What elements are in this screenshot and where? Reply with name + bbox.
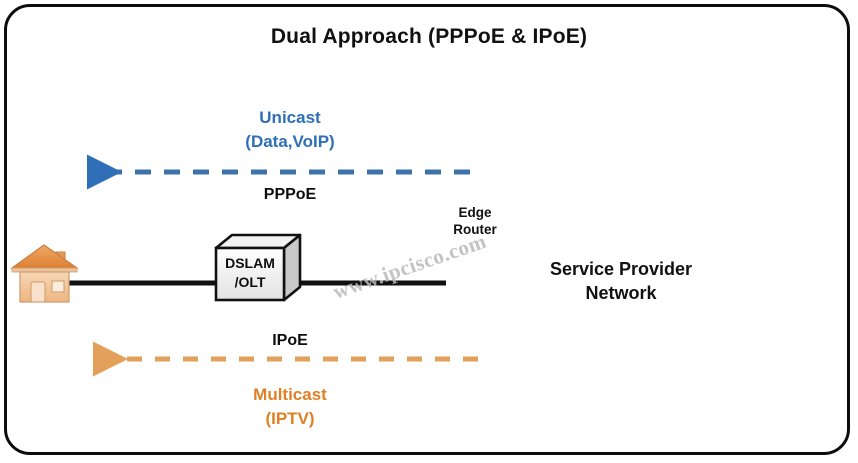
cloud-label-line2: Network [508, 282, 734, 306]
edge-router-label-line1: Edge [420, 205, 530, 221]
pppoe-label: PPPoE [190, 185, 390, 205]
page-title: Dual Approach (PPPoE & IPoE) [0, 25, 858, 49]
multicast-label-line1: Multicast [190, 385, 390, 406]
dslam-label-line2: /OLT [216, 274, 284, 291]
multicast-label-line2: (IPTV) [190, 409, 390, 430]
unicast-label-line1: Unicast [190, 108, 390, 129]
ipoe-label: IPoE [190, 331, 390, 351]
dslam-label-line1: DSLAM [216, 255, 284, 272]
diagram-canvas: Dual Approach (PPPoE & IPoE) Unicast (Da… [0, 0, 858, 463]
router-badge-letter: R [458, 307, 478, 318]
unicast-label-line2: (Data,VoIP) [190, 132, 390, 153]
cloud-label: Service Provider Network [508, 258, 734, 306]
cloud-label-line1: Service Provider [508, 258, 734, 282]
